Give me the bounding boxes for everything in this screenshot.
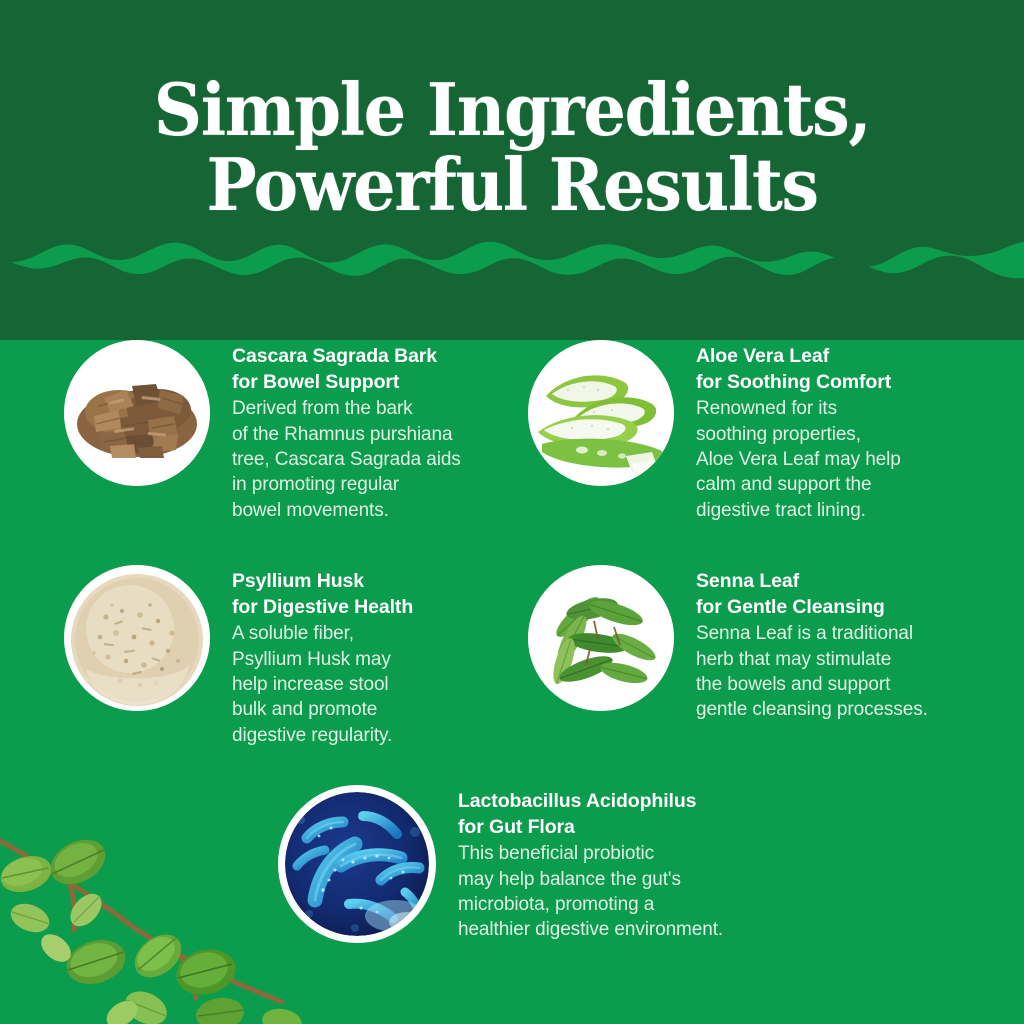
ingredient-title: Psyllium Husk for Digestive Health — [232, 569, 413, 620]
ingredient-copy: Psyllium Husk for Digestive Health A sol… — [232, 565, 413, 748]
ingredient-item-senna-leaf: Senna Leaf for Gentle Cleansing Senna Le… — [528, 565, 928, 723]
ingredient-item-psyllium-husk: Psyllium Husk for Digestive Health A sol… — [64, 565, 413, 748]
ingredient-copy: Aloe Vera Leaf for Soothing Comfort Reno… — [696, 340, 901, 523]
ingredient-title: Lactobacillus Acidophilus for Gut Flora — [458, 789, 723, 840]
page-title: Simple Ingredients, Powerful Results — [0, 74, 1024, 221]
ingredient-item-lactobacillus-acidophilus: Lactobacillus Acidophilus for Gut Flora … — [278, 785, 723, 943]
ingredient-title: Cascara Sagrada Bark for Bowel Support — [232, 344, 461, 395]
ingredient-thumbnail — [64, 340, 210, 486]
ingredient-item-cascara-sagrada-bark: Cascara Sagrada Bark for Bowel Support D… — [64, 340, 461, 523]
ingredient-copy: Cascara Sagrada Bark for Bowel Support D… — [232, 340, 461, 523]
ingredient-copy: Lactobacillus Acidophilus for Gut Flora … — [458, 785, 723, 943]
infographic-poster: Simple Ingredients, Powerful Results — [0, 0, 1024, 1024]
ingredient-thumbnail — [64, 565, 210, 711]
ingredient-copy: Senna Leaf for Gentle Cleansing Senna Le… — [696, 565, 928, 723]
ingredient-thumbnail — [528, 565, 674, 711]
ingredient-body: A soluble fiber, Psyllium Husk may help … — [232, 621, 413, 747]
psyllium-husk-powder-photo — [64, 565, 210, 711]
ingredient-title: Aloe Vera Leaf for Soothing Comfort — [696, 344, 901, 395]
ingredient-body: Derived from the bark of the Rhamnus pur… — [232, 396, 461, 522]
aloe-vera-leaf-photo — [528, 340, 674, 486]
ingredient-body: Senna Leaf is a traditional herb that ma… — [696, 621, 928, 722]
ingredient-thumbnail — [528, 340, 674, 486]
title-line-2: Powerful Results — [36, 149, 988, 220]
title-line-1: Simple Ingredients, — [36, 74, 988, 145]
cascara-sagrada-bark-photo — [64, 340, 210, 486]
lactobacillus-acidophilus-microscopy-photo — [285, 792, 429, 936]
ingredient-body: Renowned for its soothing properties, Al… — [696, 396, 901, 522]
ingredient-title: Senna Leaf for Gentle Cleansing — [696, 569, 928, 620]
ingredient-item-aloe-vera-leaf: Aloe Vera Leaf for Soothing Comfort Reno… — [528, 340, 901, 523]
ingredient-thumbnail — [278, 785, 436, 943]
ingredient-body: This beneficial probiotic may help balan… — [458, 841, 723, 942]
senna-leaf-photo — [528, 565, 674, 711]
